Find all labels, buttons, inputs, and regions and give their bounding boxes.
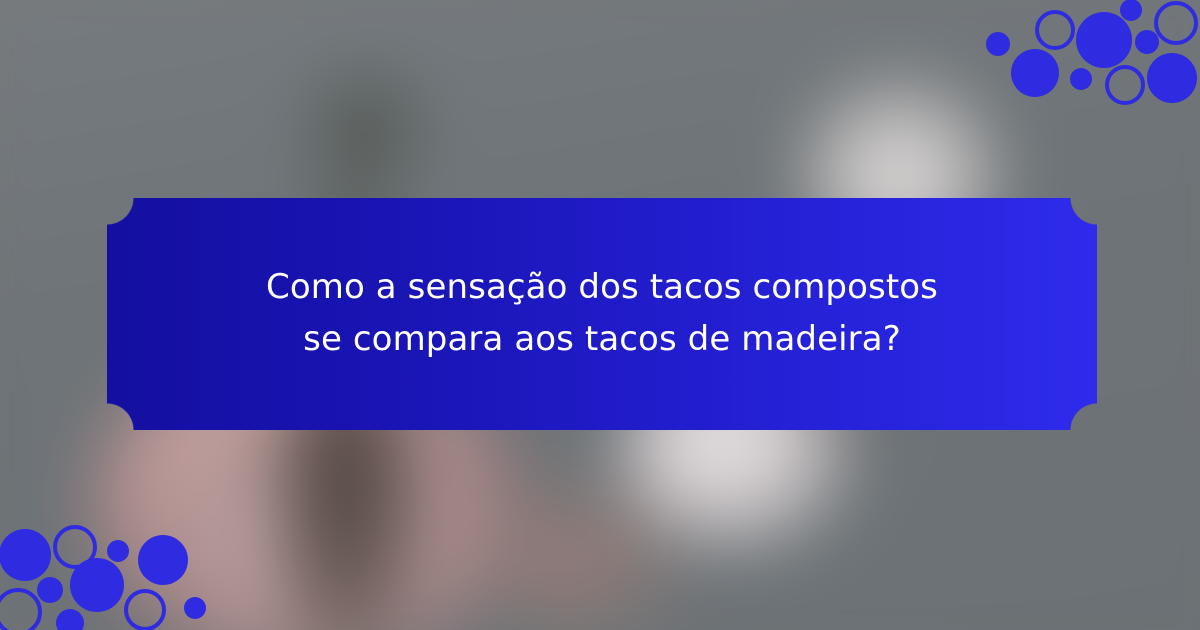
decoration-dot — [1105, 65, 1145, 105]
decoration-dot — [138, 535, 188, 585]
quote-text: Como a sensação dos tacos compostos se c… — [222, 262, 982, 365]
decoration-dot — [37, 577, 63, 603]
decoration-dot — [184, 597, 206, 619]
decoration-dots-top-right — [980, 0, 1200, 110]
decoration-dot — [1147, 53, 1197, 103]
decoration-dot — [1154, 1, 1198, 45]
decoration-dot — [0, 529, 51, 581]
decoration-dot — [56, 609, 84, 630]
decoration-dot — [1120, 0, 1142, 21]
decoration-dot — [1011, 49, 1059, 97]
quote-card: Como a sensação dos tacos compostos se c… — [0, 0, 1200, 630]
decoration-dots-bottom-left — [0, 520, 220, 630]
decoration-dot — [1076, 12, 1132, 68]
decoration-dot — [107, 540, 129, 562]
decoration-dot — [1035, 10, 1075, 50]
decoration-dot — [0, 588, 42, 630]
decoration-dot — [1135, 30, 1159, 54]
decoration-dot — [986, 32, 1010, 56]
decoration-dot — [1070, 68, 1092, 90]
decoration-dot — [124, 589, 166, 630]
quote-banner: Como a sensação dos tacos compostos se c… — [107, 198, 1097, 430]
decoration-dot — [70, 558, 124, 612]
